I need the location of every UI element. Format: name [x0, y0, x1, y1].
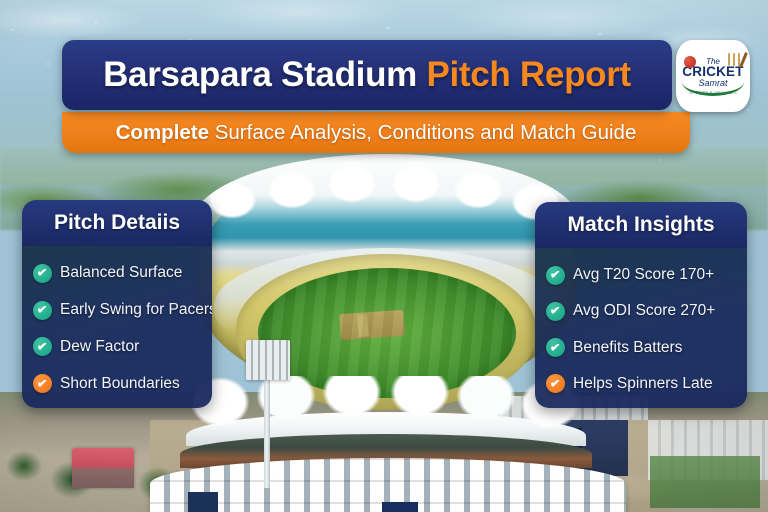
- list-item[interactable]: ✔ Avg ODI Score 270+: [546, 302, 747, 321]
- check-icon: ✔: [33, 337, 52, 356]
- panel-pitch-details: Pitch Detaiis ✔ Balanced Surface ✔ Early…: [22, 200, 212, 408]
- subtitle-rest-text: Surface Analysis, Conditions and Match G…: [209, 121, 636, 144]
- stump-icon: [728, 53, 730, 66]
- panel-header-pitch-details: Pitch Detaiis: [22, 200, 212, 246]
- panel-header-match-insights: Match Insights: [535, 202, 747, 248]
- near-roof-canopy: [186, 376, 586, 454]
- cricket-ball-icon: [684, 56, 696, 68]
- check-icon: ✔: [33, 374, 52, 393]
- check-icon: ✔: [546, 266, 565, 285]
- stand-entry-left: [382, 502, 418, 512]
- page-title: Barsapara Stadium Pitch Report: [103, 55, 631, 95]
- list-item-label: Early Swing for Pacers: [60, 301, 212, 319]
- list-item-label: Avg ODI Score 270+: [573, 302, 715, 320]
- check-icon: ✔: [546, 338, 565, 357]
- panel-title: Match Insights: [567, 213, 714, 237]
- check-icon: ✔: [33, 301, 52, 320]
- list-item-label: Short Boundaries: [60, 375, 180, 393]
- title-main-text: Barsapara Stadium: [103, 55, 417, 94]
- panel-body-match-insights: ✔ Avg T20 Score 170+ ✔ Avg ODI Score 270…: [535, 248, 747, 408]
- list-item-label: Helps Spinners Late: [573, 375, 713, 393]
- list-item[interactable]: ✔ Helps Spinners Late: [546, 374, 747, 393]
- title-banner: Barsapara Stadium Pitch Report: [62, 40, 672, 110]
- list-item[interactable]: ✔ Early Swing for Pacers: [33, 301, 212, 320]
- list-item-label: Avg T20 Score 170+: [573, 266, 714, 284]
- list-item[interactable]: ✔ Avg T20 Score 170+: [546, 266, 747, 285]
- check-icon: ✔: [546, 374, 565, 393]
- check-icon: ✔: [33, 264, 52, 283]
- panel-title: Pitch Detaiis: [54, 211, 180, 235]
- title-accent-label: Pitch Report: [426, 55, 630, 94]
- list-item[interactable]: ✔ Benefits Batters: [546, 338, 747, 357]
- panel-body-pitch-details: ✔ Balanced Surface ✔ Early Swing for Pac…: [22, 246, 212, 408]
- subtitle-bold-text: Complete: [116, 121, 209, 144]
- list-item[interactable]: ✔ Dew Factor: [33, 337, 212, 356]
- subtitle-banner: Complete Surface Analysis, Conditions an…: [62, 112, 690, 153]
- check-icon: ✔: [546, 302, 565, 321]
- panel-match-insights: Match Insights ✔ Avg T20 Score 170+ ✔ Av…: [535, 202, 747, 408]
- brand-logo[interactable]: The CRICKET Samrat SPORTS & ANALYSIS: [676, 40, 750, 112]
- list-item-label: Benefits Batters: [573, 339, 682, 357]
- page-subtitle: Complete Surface Analysis, Conditions an…: [116, 121, 637, 145]
- list-item-label: Dew Factor: [60, 338, 139, 356]
- list-item-label: Balanced Surface: [60, 264, 182, 282]
- stump-icon: [733, 53, 735, 66]
- list-item[interactable]: ✔ Balanced Surface: [33, 264, 212, 283]
- stand-entry-far-left: [188, 492, 218, 512]
- floodlight-head: [246, 340, 290, 380]
- list-item[interactable]: ✔ Short Boundaries: [33, 374, 212, 393]
